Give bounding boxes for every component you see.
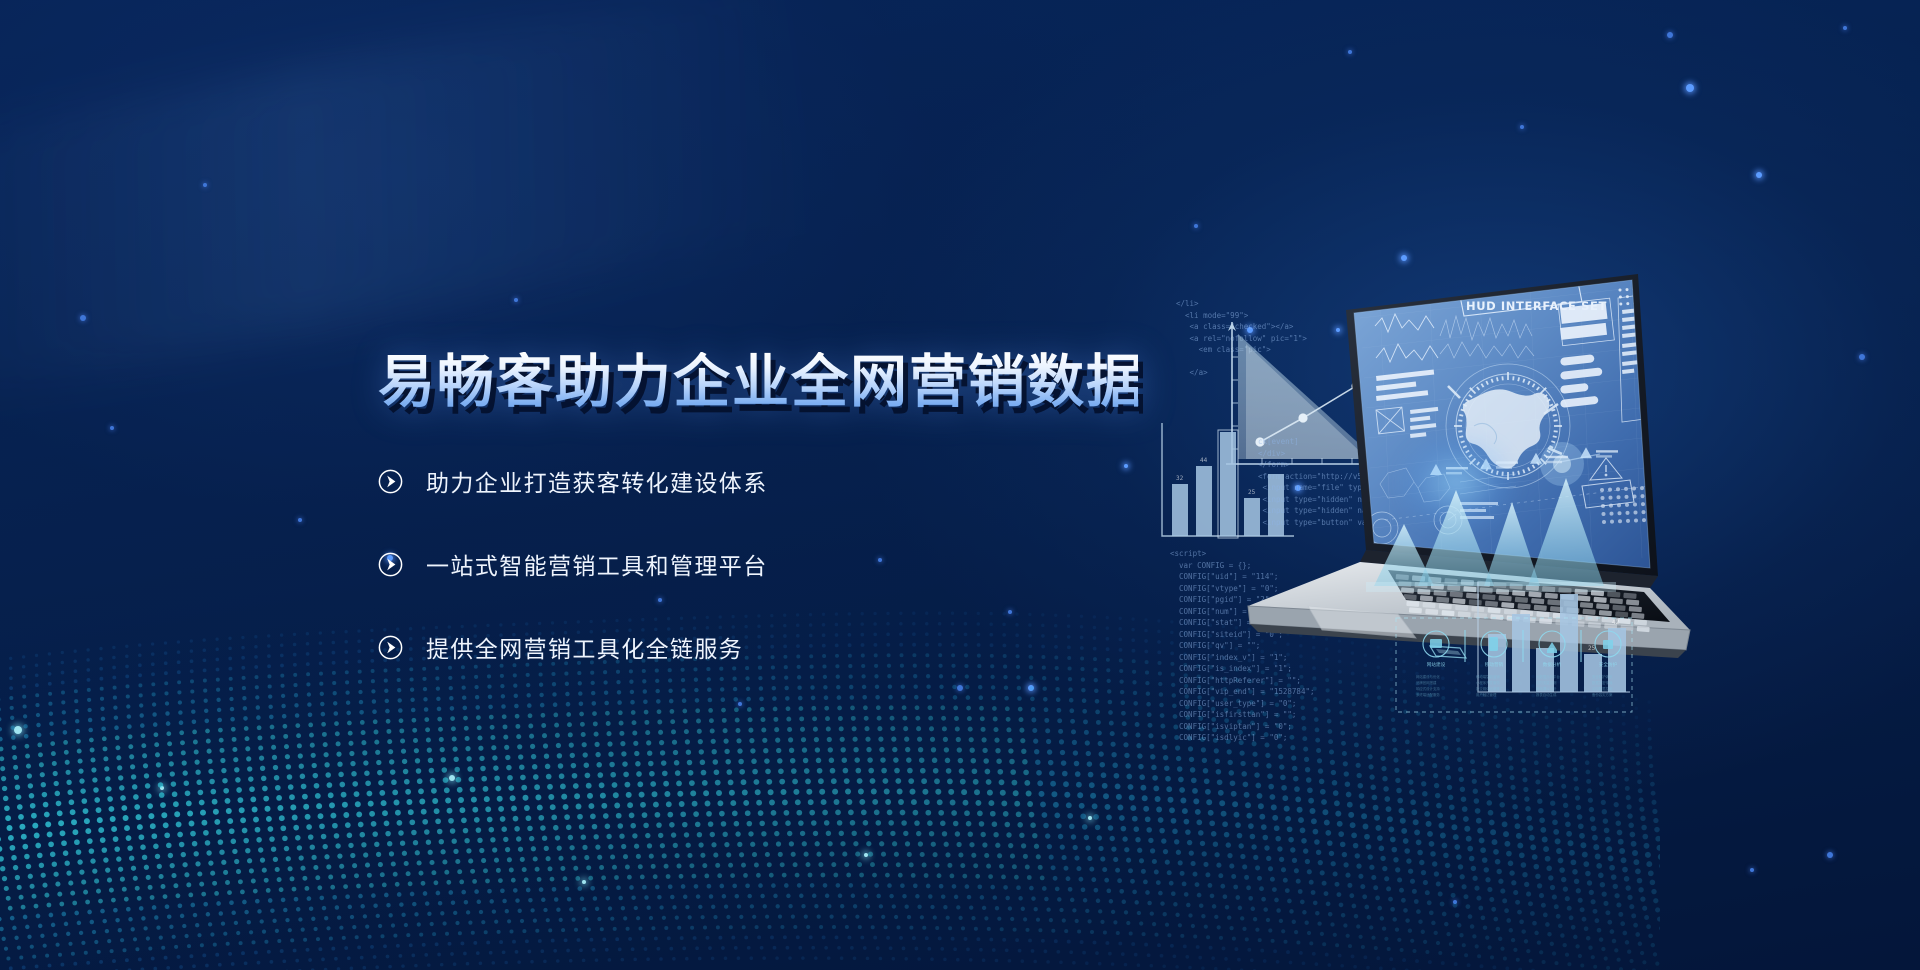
list-item-label: 一站式智能营销工具和管理平台 bbox=[426, 547, 768, 581]
particle bbox=[14, 726, 22, 734]
bullet-list: 助力企业打造获客转化建设体系 一站式智能营销工具和管理平台 bbox=[378, 460, 1138, 668]
laptop-illustration: HUD INTERFACE SET bbox=[1130, 258, 1790, 738]
particle bbox=[110, 426, 114, 430]
particle bbox=[160, 786, 164, 790]
svg-text:42: 42 bbox=[1612, 619, 1620, 626]
particle bbox=[1194, 224, 1198, 228]
page-title: 易畅客助力企业全网营销数据化 bbox=[378, 352, 1138, 412]
particle bbox=[864, 853, 868, 857]
list-item-label: 提供全网营销工具化全链服务 bbox=[426, 630, 743, 664]
hero-text-block: 易畅客助力企业全网营销数据化 助力企业打造获客转化建设体系 bbox=[378, 352, 1138, 709]
particle bbox=[1827, 852, 1833, 858]
particle bbox=[449, 775, 455, 781]
circle-arrow-right-icon bbox=[378, 552, 403, 577]
list-item: 提供全网营销工具化全链服务 bbox=[378, 626, 1138, 668]
list-item: 一站式智能营销工具和管理平台 bbox=[378, 543, 1138, 585]
particle bbox=[1756, 172, 1762, 178]
laptop-hero-graphic: </li> <li mode="99"> <a class="checked">… bbox=[1130, 258, 1790, 738]
particle bbox=[582, 880, 586, 884]
particle bbox=[1859, 354, 1865, 360]
circle-arrow-right-icon bbox=[378, 635, 403, 660]
particle bbox=[298, 518, 302, 522]
right-bar-chart: 25 42 bbox=[1470, 580, 1640, 710]
banner-stage: 易畅客助力企业全网营销数据化 助力企业打造获客转化建设体系 bbox=[0, 0, 1920, 970]
particle bbox=[1088, 816, 1092, 820]
particle bbox=[1667, 32, 1673, 38]
particle bbox=[80, 315, 86, 321]
list-item-label: 助力企业打造获客转化建设体系 bbox=[426, 464, 768, 498]
particle bbox=[1453, 900, 1457, 904]
particle bbox=[1750, 868, 1754, 872]
particle bbox=[1348, 50, 1352, 54]
list-item: 助力企业打造获客转化建设体系 bbox=[378, 460, 1138, 502]
svg-text:25: 25 bbox=[1588, 645, 1596, 652]
particle bbox=[203, 183, 207, 187]
particle bbox=[514, 298, 518, 302]
particle bbox=[1520, 125, 1524, 129]
particle bbox=[1843, 26, 1847, 30]
circle-arrow-right-icon bbox=[378, 469, 403, 494]
particle bbox=[1686, 84, 1694, 92]
background-glow-sweep bbox=[0, 0, 817, 403]
